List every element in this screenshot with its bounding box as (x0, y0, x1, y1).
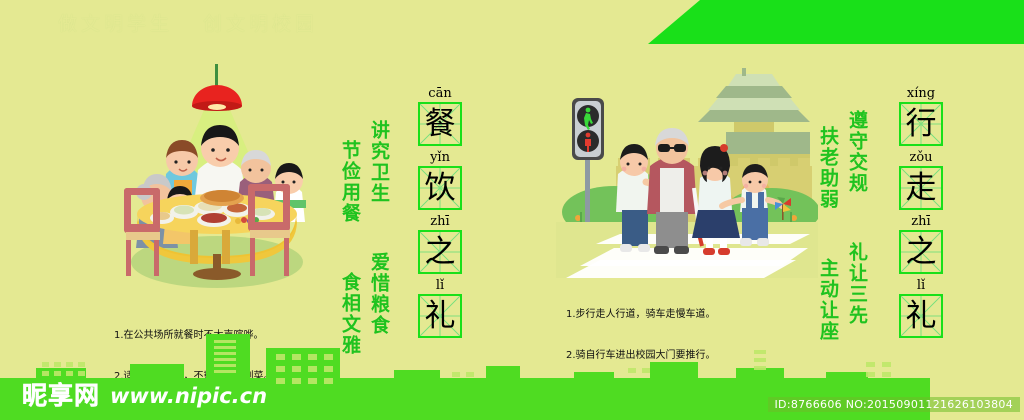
character-glyph: 礼 (420, 296, 460, 336)
poster-canvas: 做文明学生 创文明校园 (0, 0, 1024, 420)
image-id-tag: ID:8766606 NO:20150901121626103804 (768, 397, 1020, 412)
pinyin-label: zhī (893, 214, 949, 230)
character-glyph: 餐 (420, 104, 460, 144)
character-glyph: 行 (901, 104, 941, 144)
character-cell: xíng 行 (893, 86, 949, 146)
character-glyph: 之 (901, 232, 941, 272)
character-cell: zhī 之 (412, 214, 468, 274)
character-gridbox: 之 (899, 230, 943, 274)
table-base (193, 268, 241, 280)
pinyin-label: zhī (412, 214, 468, 230)
character-gridbox: 礼 (418, 294, 462, 338)
right-slogan-inner: 遵守交规 礼让三先 (844, 110, 871, 326)
character-cell: zhī 之 (893, 214, 949, 274)
character-glyph: 之 (420, 232, 460, 272)
left-character-stack: cān 餐 yǐn 饮 zhī 之 lǐ 礼 (412, 86, 468, 342)
character-glyph: 走 (901, 168, 941, 208)
skirt (692, 210, 740, 238)
right-slogan-outer: 扶老助弱 主动让座 (815, 126, 842, 342)
character-gridbox: 饮 (418, 166, 462, 210)
character-cell: zǒu 走 (893, 150, 949, 210)
right-character-stack: xíng 行 zǒu 走 zhī 之 lǐ 礼 (893, 86, 949, 342)
hair-bow (720, 144, 728, 152)
pinyin-label: zǒu (893, 150, 949, 166)
character-glyph: 礼 (901, 296, 941, 336)
pinyin-label: xíng (893, 86, 949, 102)
left-slogan-inner: 讲究卫生 爱惜粮食 (366, 120, 393, 336)
character-gridbox: 行 (899, 102, 943, 146)
pinyin-label: lǐ (893, 278, 949, 294)
character-gridbox: 礼 (899, 294, 943, 338)
character-cell: cān 餐 (412, 86, 468, 146)
lamp-bulb (208, 104, 226, 110)
character-cell: yǐn 饮 (412, 150, 468, 210)
left-slogan-outer: 节俭用餐 食相文雅 (337, 140, 364, 356)
pinyin-label: yǐn (412, 150, 468, 166)
character-cell: lǐ 礼 (412, 278, 468, 338)
sunglasses (658, 144, 670, 152)
character-gridbox: 走 (899, 166, 943, 210)
list-item: 1.步行走人行道，骑车走慢车道。 (566, 308, 726, 322)
pinyin-label: cān (412, 86, 468, 102)
watermark-brand: 昵享网 (22, 382, 100, 410)
character-gridbox: 餐 (418, 102, 462, 146)
character-glyph: 饮 (420, 168, 460, 208)
character-gridbox: 之 (418, 230, 462, 274)
header-banner-title: 做文明学生 创文明校园 (0, 0, 376, 44)
character-cell: lǐ 礼 (893, 278, 949, 338)
watermark: 昵享网 www.nipic.cn (22, 382, 267, 410)
watermark-url: www.nipic.cn (110, 382, 267, 410)
crosswalk-helping-illustration (556, 62, 818, 278)
header-banner (648, 0, 1024, 44)
family-dining-illustration (104, 62, 330, 300)
pinyin-label: lǐ (412, 278, 468, 294)
